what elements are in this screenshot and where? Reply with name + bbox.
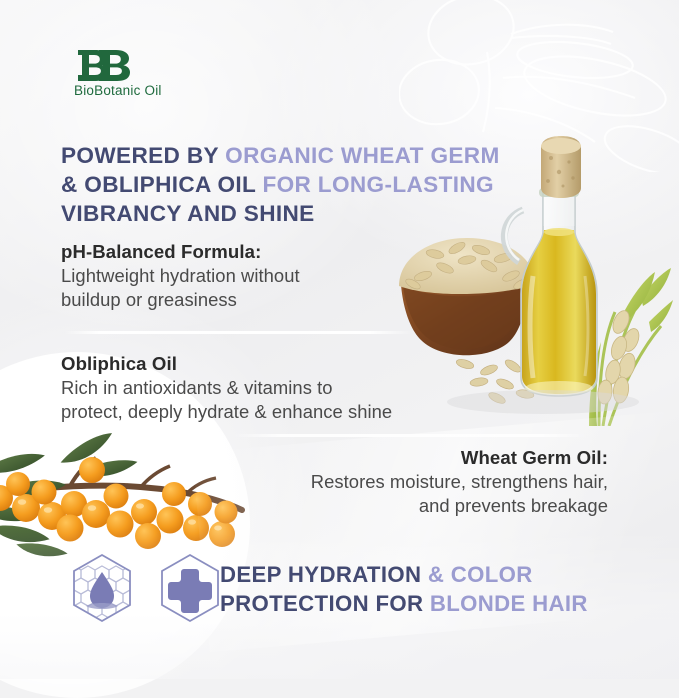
- banner-line1-dark: DEEP HYDRATION: [220, 562, 421, 587]
- benefit-body-line1: Lightweight hydration without: [61, 264, 429, 288]
- benefit-title: pH-Balanced Formula:: [61, 240, 429, 264]
- benefit-body-line2: buildup or greasiness: [61, 288, 429, 312]
- benefit-obliphica-oil: Obliphica Oil Rich in antioxidants & vit…: [61, 352, 471, 425]
- banner-line2-dark: PROTECTION FOR: [220, 591, 423, 616]
- benefit-body-line2: and prevents breakage: [188, 494, 608, 518]
- brand-name: BioBotanic Oil: [74, 83, 204, 98]
- water-droplet-honeycomb-icon: [66, 552, 138, 624]
- headline-line3-dark: VIBRANCY AND SHINE: [61, 201, 315, 226]
- bottom-banner: DEEP HYDRATION & COLOR PROTECTION FOR BL…: [220, 560, 670, 619]
- benefit-wheat-germ-oil: Wheat Germ Oil: Restores moisture, stren…: [188, 446, 608, 519]
- plus-cross-icon: [154, 552, 226, 624]
- banner-line1-light: & COLOR: [428, 562, 533, 587]
- benefit-title: Wheat Germ Oil:: [188, 446, 608, 470]
- headline-line2-dark: & OBLIPHICA OIL: [61, 172, 256, 197]
- infographic-canvas: BioBotanic Oil POWERED BY ORGANIC WHEAT …: [0, 0, 679, 679]
- benefit-ph-balanced: pH-Balanced Formula: Lightweight hydrati…: [61, 240, 429, 313]
- headline-line1-dark: POWERED BY: [61, 143, 219, 168]
- benefit-body-line1: Rich in antioxidants & vitamins to: [61, 376, 471, 400]
- benefit-title: Obliphica Oil: [61, 352, 471, 376]
- benefit-body-line1: Restores moisture, strengthens hair,: [188, 470, 608, 494]
- feature-badges: [66, 552, 226, 624]
- bb-monogram-icon: [74, 48, 132, 82]
- section-divider: [64, 331, 412, 334]
- brand-logo: BioBotanic Oil: [74, 48, 204, 98]
- benefit-body-line2: protect, deeply hydrate & enhance shine: [61, 400, 471, 424]
- banner-line2-light: BLONDE HAIR: [430, 591, 588, 616]
- section-divider: [232, 434, 588, 437]
